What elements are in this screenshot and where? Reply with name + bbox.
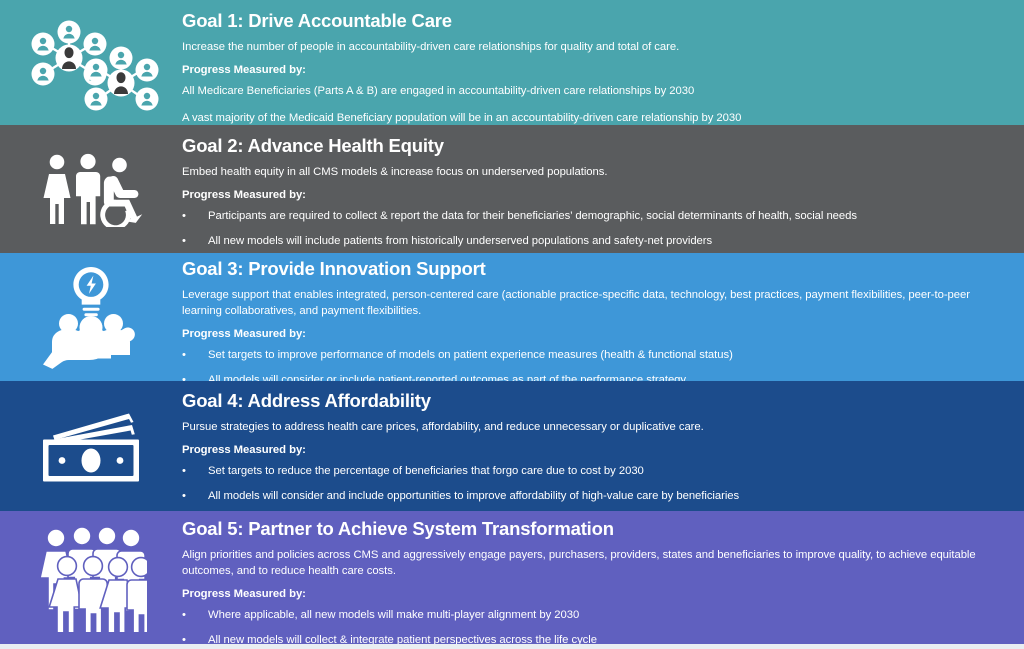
goal-3-icon-column	[0, 253, 182, 381]
goal-5-measure-text-1: Where applicable, all new models will ma…	[208, 608, 579, 623]
goal-4-description: Pursue strategies to address health care…	[182, 419, 1000, 435]
goal-band-1: Goal 1: Drive Accountable Care Increase …	[0, 0, 1024, 125]
goal-5-title: Goal 5: Partner to Achieve System Transf…	[182, 519, 1000, 540]
goal-3-measure-text-2: All models will consider or include pati…	[208, 373, 686, 381]
goal-2-text-column: Goal 2: Advance Health Equity Embed heal…	[182, 125, 1024, 249]
diverse-people-accessibility-icon	[36, 152, 146, 227]
goal-3-description: Leverage support that enables integrated…	[182, 287, 1000, 319]
goal-2-measure-list: • Participants are required to collect &…	[182, 209, 1000, 250]
goal-2-title: Goal 2: Advance Health Equity	[182, 136, 1000, 157]
goal-1-progress-label: Progress Measured by:	[182, 64, 1000, 76]
goal-band-2: Goal 2: Advance Health Equity Embed heal…	[0, 125, 1024, 253]
goal-5-measure-item-2: • All new models will collect & integrat…	[182, 633, 1000, 644]
goal-1-measure-text-2: A vast majority of the Medicaid Benefici…	[182, 111, 741, 125]
bullet-icon: •	[182, 633, 208, 644]
goal-5-text-column: Goal 5: Partner to Achieve System Transf…	[182, 511, 1024, 644]
goal-4-measure-item-2: • All models will consider and include o…	[182, 489, 1000, 504]
goal-band-5: Goal 5: Partner to Achieve System Transf…	[0, 511, 1024, 644]
goal-5-measure-item-1: • Where applicable, all new models will …	[182, 608, 1000, 623]
goal-5-measure-list: • Where applicable, all new models will …	[182, 608, 1000, 644]
hand-supporting-people-lightbulb-icon	[33, 263, 149, 371]
goal-1-icon-column	[0, 6, 182, 125]
goal-2-measure-text-1: Participants are required to collect & r…	[208, 209, 857, 224]
accountable-care-network-icon	[21, 13, 161, 118]
goal-2-measure-item-2: • All new models will include patients f…	[182, 234, 1000, 249]
goal-2-measure-item-1: • Participants are required to collect &…	[182, 209, 1000, 224]
goal-3-measure-item-2: • All models will consider or include pa…	[182, 373, 1000, 381]
goal-4-measure-text-1: Set targets to reduce the percentage of …	[208, 464, 644, 479]
bullet-icon: •	[182, 464, 208, 479]
goal-3-measure-text-1: Set targets to improve performance of mo…	[208, 348, 733, 363]
goal-1-text-column: Goal 1: Drive Accountable Care Increase …	[182, 6, 1024, 125]
goal-3-text-column: Goal 3: Provide Innovation Support Lever…	[182, 253, 1024, 381]
money-banknotes-icon	[37, 407, 145, 485]
goal-4-icon-column	[0, 381, 182, 511]
bullet-icon: •	[182, 234, 208, 249]
goal-4-title: Goal 4: Address Affordability	[182, 391, 1000, 412]
bullet-icon: •	[182, 608, 208, 623]
goal-4-text-column: Goal 4: Address Affordability Pursue str…	[182, 381, 1024, 504]
goal-3-progress-label: Progress Measured by:	[182, 328, 1000, 340]
goal-5-description: Align priorities and policies across CMS…	[182, 547, 1000, 579]
bullet-icon: •	[182, 373, 208, 381]
goal-4-measure-text-2: All models will consider and include opp…	[208, 489, 739, 504]
goal-5-progress-label: Progress Measured by:	[182, 588, 1000, 600]
group-of-people-crowd-icon	[35, 524, 147, 632]
goal-1-title: Goal 1: Drive Accountable Care	[182, 11, 1000, 32]
goal-4-measure-list: • Set targets to reduce the percentage o…	[182, 464, 1000, 505]
goal-4-measure-item-1: • Set targets to reduce the percentage o…	[182, 464, 1000, 479]
bullet-icon: •	[182, 209, 208, 224]
goal-5-measure-text-2: All new models will collect & integrate …	[208, 633, 597, 644]
goal-band-4: Goal 4: Address Affordability Pursue str…	[0, 381, 1024, 511]
goal-1-measure-text-1: All Medicare Beneficiaries (Parts A & B)…	[182, 84, 694, 99]
goal-3-measure-list: • Set targets to improve performance of …	[182, 348, 1000, 381]
goal-2-progress-label: Progress Measured by:	[182, 189, 1000, 201]
goal-1-measure-item-1: All Medicare Beneficiaries (Parts A & B)…	[182, 84, 1000, 99]
bottom-strip	[0, 644, 1024, 649]
goal-1-measure-list: All Medicare Beneficiaries (Parts A & B)…	[182, 84, 1000, 125]
goal-4-progress-label: Progress Measured by:	[182, 444, 1000, 456]
goal-5-icon-column	[0, 511, 182, 644]
goal-2-measure-text-2: All new models will include patients fro…	[208, 234, 712, 249]
goal-band-3: Goal 3: Provide Innovation Support Lever…	[0, 253, 1024, 381]
bullet-icon: •	[182, 489, 208, 504]
bullet-icon: •	[182, 348, 208, 363]
goal-1-measure-item-2: A vast majority of the Medicaid Benefici…	[182, 111, 1000, 125]
goal-3-title: Goal 3: Provide Innovation Support	[182, 259, 1000, 280]
goal-2-icon-column	[0, 125, 182, 253]
goal-1-description: Increase the number of people in account…	[182, 39, 1000, 55]
cms-strategic-goals-poster: Goal 1: Drive Accountable Care Increase …	[0, 0, 1024, 649]
goal-3-measure-item-1: • Set targets to improve performance of …	[182, 348, 1000, 363]
goal-2-description: Embed health equity in all CMS models & …	[182, 164, 1000, 180]
